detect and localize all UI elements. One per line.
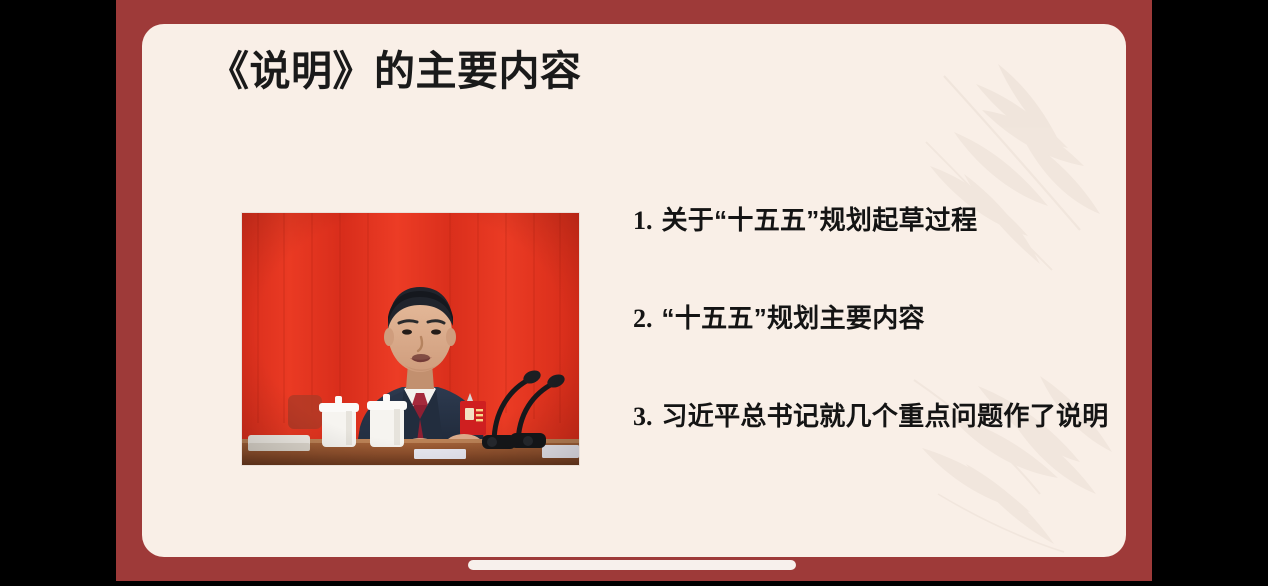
list-item: 2. “十五五”规划主要内容: [633, 298, 1103, 335]
letterbox-right: [1152, 0, 1268, 586]
letterbox-left: [0, 0, 116, 586]
slide-frame: 《说明》的主要内容: [116, 0, 1152, 581]
list-item-number: 2.: [633, 304, 653, 334]
page-title: 《说明》的主要内容: [208, 44, 582, 99]
list-item: 1. 关于“十五五”规划起草过程: [633, 200, 1103, 237]
slide-content-panel: 《说明》的主要内容: [142, 24, 1126, 557]
meeting-photo: [242, 213, 579, 465]
home-indicator-bar[interactable]: [468, 560, 796, 570]
list-item-label: “十五五”规划主要内容: [662, 298, 925, 335]
list-item-label: 习近平总书记就几个重点问题作了说明: [662, 396, 1109, 433]
agenda-list: 1. 关于“十五五”规划起草过程 2. “十五五”规划主要内容 3. 习近平总书…: [633, 200, 1103, 433]
list-item-number: 3.: [633, 402, 653, 432]
list-item: 3. 习近平总书记就几个重点问题作了说明: [633, 396, 1103, 433]
list-item-label: 关于“十五五”规划起草过程: [662, 200, 978, 237]
list-item-number: 1.: [633, 206, 653, 236]
slide-viewer: 《说明》的主要内容: [0, 0, 1268, 586]
